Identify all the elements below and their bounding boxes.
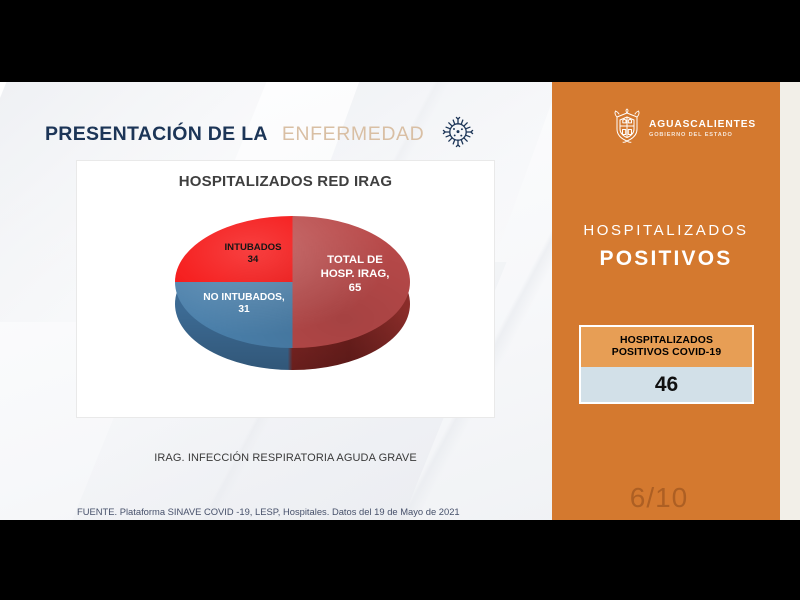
stat-card-header-line1: HOSPITALIZADOS xyxy=(620,335,713,347)
logo-text-block: AGUASCALIENTES GOBIERNO DEL ESTADO xyxy=(649,119,756,137)
pie-slice-label-intubados: INTUBADOS 34 xyxy=(193,242,313,265)
stat-card-header: HOSPITALIZADOS POSITIVOS COVID-19 xyxy=(581,327,752,367)
slide-title-strong: PRESENTACIÓN DE LA xyxy=(45,123,268,146)
letterbox-top xyxy=(0,0,800,82)
side-panel: AGUASCALIENTES GOBIERNO DEL ESTADO HOSPI… xyxy=(552,82,780,520)
chart-title: HOSPITALIZADOS RED IRAG xyxy=(77,173,494,190)
chart-container: HOSPITALIZADOS RED IRAG INTUBADOS 34 NO … xyxy=(76,160,495,418)
coat-of-arms-icon xyxy=(612,108,642,149)
pie-slice-value: 31 xyxy=(179,304,309,316)
stat-card-hospitalizados-positivos: HOSPITALIZADOS POSITIVOS COVID-19 46 xyxy=(579,325,754,404)
source-note: FUENTE. Plataforma SINAVE COVID -19, LES… xyxy=(77,506,460,517)
pie-chart: INTUBADOS 34 NO INTUBADOS, 31 TOTAL DE H… xyxy=(175,216,410,391)
pie-slice-name: NO INTUBADOS, xyxy=(179,292,309,304)
government-logo: AGUASCALIENTES GOBIERNO DEL ESTADO xyxy=(612,108,756,149)
coronavirus-icon xyxy=(442,116,474,153)
irag-caption: IRAG. INFECCIÓN RESPIRATORIA AGUDA GRAVE xyxy=(76,452,495,464)
slide-title: PRESENTACIÓN DE LA ENFERMEDAD xyxy=(45,116,474,153)
pie-slice-label-no-intubados: NO INTUBADOS, 31 xyxy=(179,292,309,317)
slide-screenshot: PRESENTACIÓN DE LA ENFERMEDAD xyxy=(0,0,800,600)
panel-heading-line2: POSITIVOS xyxy=(552,247,780,271)
slide-right-margin xyxy=(780,82,800,520)
page-number: 6/10 xyxy=(552,482,780,514)
pie-slice-label-total-irag: TOTAL DE HOSP. IRAG, 65 xyxy=(303,254,407,296)
logo-subtitle: GOBIERNO DEL ESTADO xyxy=(649,132,756,138)
pie-slice-value: 65 xyxy=(303,282,407,296)
pie-slice-name-line2: HOSP. IRAG, xyxy=(303,268,407,282)
letterbox-bottom xyxy=(0,520,800,600)
stat-card-value: 46 xyxy=(581,367,752,402)
slide-title-light: ENFERMEDAD xyxy=(282,123,425,146)
pie-slice-name: INTUBADOS xyxy=(193,242,313,254)
stat-card-header-line2: POSITIVOS COVID-19 xyxy=(612,347,722,359)
pie-slice-value: 34 xyxy=(193,254,313,266)
panel-heading-line1: HOSPITALIZADOS xyxy=(552,222,780,239)
logo-state-name: AGUASCALIENTES xyxy=(649,119,756,130)
pie-slice-name-line1: TOTAL DE xyxy=(303,254,407,268)
